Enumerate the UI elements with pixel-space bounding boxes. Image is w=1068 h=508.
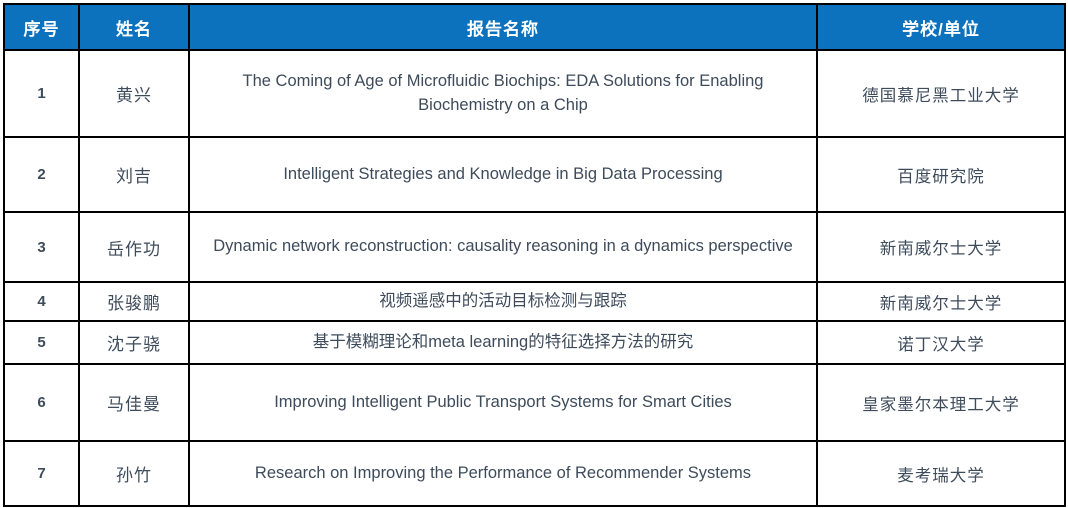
header-row: 序号 姓名 报告名称 学校/单位	[4, 4, 1065, 50]
table-row: 1 黄兴 The Coming of Age of Microfluidic B…	[4, 50, 1065, 137]
column-header-name[interactable]: 姓名	[79, 4, 189, 50]
table-body: 1 黄兴 The Coming of Age of Microfluidic B…	[4, 50, 1065, 506]
cell-name: 刘吉	[79, 137, 189, 212]
cell-index: 1	[4, 50, 79, 137]
cell-name: 岳作功	[79, 212, 189, 282]
report-table-container: 序号 姓名 报告名称 学校/单位 1 黄兴 The Coming of Age …	[0, 0, 1068, 508]
cell-title: Research on Improving the Performance of…	[189, 441, 817, 506]
cell-title: 视频遥感中的活动目标检测与跟踪	[189, 282, 817, 321]
column-header-index[interactable]: 序号	[4, 4, 79, 50]
cell-school: 新南威尔士大学	[817, 282, 1065, 321]
cell-title: The Coming of Age of Microfluidic Biochi…	[189, 50, 817, 137]
column-header-title[interactable]: 报告名称	[189, 4, 817, 50]
cell-name: 孙竹	[79, 441, 189, 506]
cell-index: 5	[4, 321, 79, 364]
cell-name: 沈子骁	[79, 321, 189, 364]
cell-school: 皇家墨尔本理工大学	[817, 364, 1065, 441]
cell-school: 麦考瑞大学	[817, 441, 1065, 506]
cell-name: 黄兴	[79, 50, 189, 137]
cell-index: 7	[4, 441, 79, 506]
table-header: 序号 姓名 报告名称 学校/单位	[4, 4, 1065, 50]
cell-school: 德国慕尼黑工业大学	[817, 50, 1065, 137]
table-row: 6 马佳曼 Improving Intelligent Public Trans…	[4, 364, 1065, 441]
cell-school: 诺丁汉大学	[817, 321, 1065, 364]
cell-index: 3	[4, 212, 79, 282]
report-schedule-table: 序号 姓名 报告名称 学校/单位 1 黄兴 The Coming of Age …	[3, 3, 1066, 507]
table-row: 3 岳作功 Dynamic network reconstruction: ca…	[4, 212, 1065, 282]
table-row: 7 孙竹 Research on Improving the Performan…	[4, 441, 1065, 506]
cell-title: Improving Intelligent Public Transport S…	[189, 364, 817, 441]
table-row: 2 刘吉 Intelligent Strategies and Knowledg…	[4, 137, 1065, 212]
cell-school: 百度研究院	[817, 137, 1065, 212]
cell-title: 基于模糊理论和meta learning的特征选择方法的研究	[189, 321, 817, 364]
cell-index: 4	[4, 282, 79, 321]
cell-school: 新南威尔士大学	[817, 212, 1065, 282]
cell-index: 2	[4, 137, 79, 212]
cell-title: Intelligent Strategies and Knowledge in …	[189, 137, 817, 212]
table-row: 5 沈子骁 基于模糊理论和meta learning的特征选择方法的研究 诺丁汉…	[4, 321, 1065, 364]
cell-title: Dynamic network reconstruction: causalit…	[189, 212, 817, 282]
column-header-school[interactable]: 学校/单位	[817, 4, 1065, 50]
table-row: 4 张骏鹏 视频遥感中的活动目标检测与跟踪 新南威尔士大学	[4, 282, 1065, 321]
cell-name: 张骏鹏	[79, 282, 189, 321]
cell-index: 6	[4, 364, 79, 441]
cell-name: 马佳曼	[79, 364, 189, 441]
